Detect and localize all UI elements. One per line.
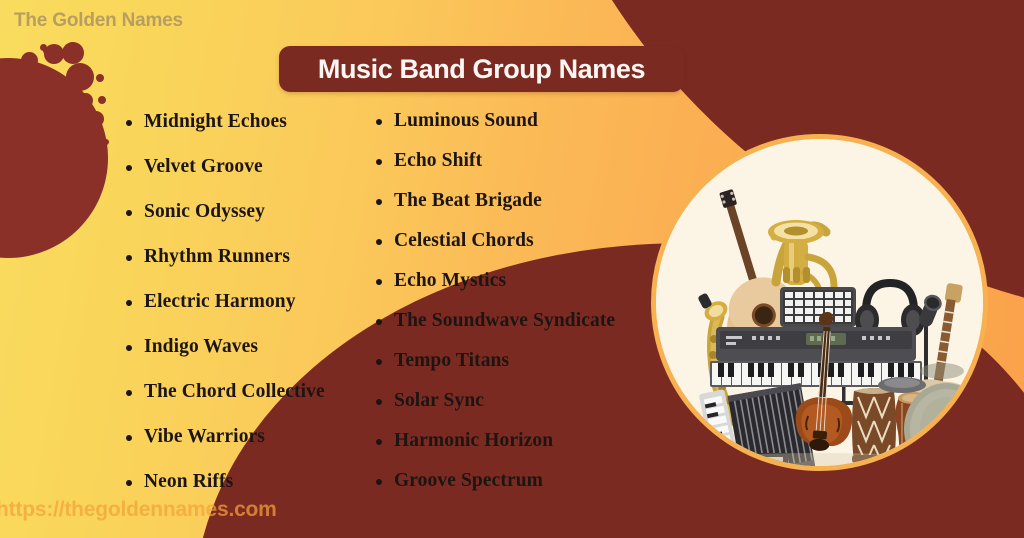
decorative-dot [82,122,89,129]
electronic-keyboard-icon [710,327,922,387]
decorative-dot [68,42,76,50]
list-item-label: Electric Harmony [144,291,296,312]
list-item: Sonic Odyssey [122,198,372,243]
name-list-right: Luminous Sound Echo Shift The Beat Briga… [372,108,672,508]
list-item: Rhythm Runners [122,243,372,288]
decorative-dot [88,111,104,127]
instruments-photo [656,139,983,466]
list-item-label: Harmonic Horizon [394,430,553,451]
list-item-label: Indigo Waves [144,336,258,357]
list-item: Echo Mystics [372,268,672,308]
decorative-dot [21,52,38,69]
list-item: The Chord Collective [122,378,372,423]
list-item-label: Echo Mystics [394,270,506,291]
list-item: Groove Spectrum [372,468,672,508]
list-item-label: Velvet Groove [144,156,263,177]
list-item-label: The Beat Brigade [394,190,542,211]
list-item-label: Luminous Sound [394,110,538,131]
list-item-label: Groove Spectrum [394,470,543,491]
page-title: Music Band Group Names [318,54,645,85]
decorative-dot [103,139,109,145]
list-item: Electric Harmony [122,288,372,333]
list-item: Celestial Chords [372,228,672,268]
list-item: Tempo Titans [372,348,672,388]
list-item-label: Solar Sync [394,390,484,411]
cymbal-icon [878,377,926,393]
list-item-label: Neon Riffs [144,471,233,492]
decorative-dot [78,93,93,108]
list-item: Vibe Warriors [122,423,372,468]
list-item: Velvet Groove [122,153,372,198]
list-item-label: The Chord Collective [144,381,325,402]
instruments-photo-circle [651,134,988,471]
name-list-left: Midnight Echoes Velvet Groove Sonic Odys… [122,108,372,513]
url-watermark: https://thegoldennames.com [0,498,277,522]
list-item: Indigo Waves [122,333,372,378]
list-item: Luminous Sound [372,108,672,148]
decorative-dot [44,44,64,64]
synth-pad-controller-icon [780,287,856,327]
list-item: Solar Sync [372,388,672,428]
list-item: The Beat Brigade [372,188,672,228]
list-item: Midnight Echoes [122,108,372,153]
instrument-collage-illustration [656,139,983,466]
decorative-dot [96,74,104,82]
list-item-label: Midnight Echoes [144,111,287,132]
list-item-label: Echo Shift [394,150,482,171]
list-item-label: Vibe Warriors [144,426,265,447]
list-item-label: Rhythm Runners [144,246,290,267]
decorative-dot [80,135,102,157]
brand-logo: The Golden Names [14,10,183,32]
list-item-label: Sonic Odyssey [144,201,265,222]
infographic-canvas: The Golden Names Music Band Group Names … [0,0,1024,538]
decorative-dot [66,63,94,91]
list-item-label: The Soundwave Syndicate [394,310,615,331]
list-item: Harmonic Horizon [372,428,672,468]
list-item-label: Celestial Chords [394,230,534,251]
list-item: Echo Shift [372,148,672,188]
list-item: The Soundwave Syndicate [372,308,672,348]
page-title-banner: Music Band Group Names [279,46,684,92]
decorative-large-circle [0,58,108,258]
list-item-label: Tempo Titans [394,350,509,371]
decorative-dot [98,96,106,104]
